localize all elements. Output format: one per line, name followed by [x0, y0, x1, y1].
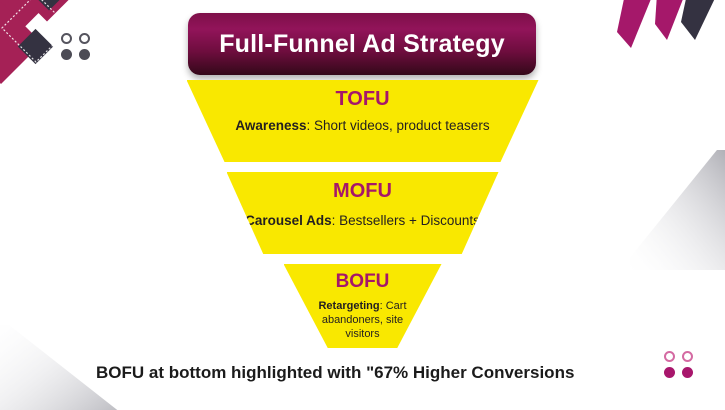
funnel-stage-description-strong: Retargeting	[318, 300, 379, 312]
funnel-stage-mofu[interactable]: MOFU Carousel Ads: Bestsellers + Discoun…	[227, 172, 499, 254]
slide-canvas: Full-Funnel Ad Strategy TOFU Awareness: …	[0, 0, 725, 410]
dot-hollow	[682, 351, 693, 362]
dot-solid	[664, 367, 675, 378]
slide-caption: BOFU at bottom highlighted with "67% Hig…	[96, 363, 574, 383]
dot-hollow	[61, 33, 72, 44]
funnel-stage-description: Retargeting: Cart abandoners, site visit…	[313, 300, 413, 341]
funnel-stage-bofu[interactable]: BOFU Retargeting: Cart abandoners, site …	[284, 264, 442, 348]
dot-solid	[61, 49, 72, 60]
funnel-stage-description-strong: Carousel Ads	[245, 213, 332, 228]
chevron-mark-icon	[595, 0, 725, 70]
page-title: Full-Funnel Ad Strategy	[219, 30, 505, 59]
dot-grid-icon	[61, 33, 90, 60]
dot-hollow	[664, 351, 675, 362]
dot-solid	[682, 367, 693, 378]
funnel-stage-description-rest: : Bestsellers + Discounts	[332, 213, 480, 228]
funnel-stage-label: TOFU	[335, 89, 389, 109]
title-banner: Full-Funnel Ad Strategy	[188, 13, 536, 75]
dot-solid	[79, 49, 90, 60]
funnel-stage-description-strong: Awareness	[235, 118, 306, 133]
funnel-stage-description: Awareness: Short videos, product teasers	[235, 118, 489, 135]
funnel-stage-label: MOFU	[333, 181, 392, 201]
dot-hollow	[79, 33, 90, 44]
funnel-stage-description: Carousel Ads: Bestsellers + Discounts	[245, 213, 480, 230]
funnel-diagram: TOFU Awareness: Short videos, product te…	[0, 80, 725, 348]
dot-grid-icon	[664, 351, 693, 378]
funnel-stage-label: BOFU	[336, 272, 390, 291]
funnel-stage-tofu[interactable]: TOFU Awareness: Short videos, product te…	[187, 80, 539, 162]
funnel-stage-description-rest: : Short videos, product teasers	[306, 118, 489, 133]
